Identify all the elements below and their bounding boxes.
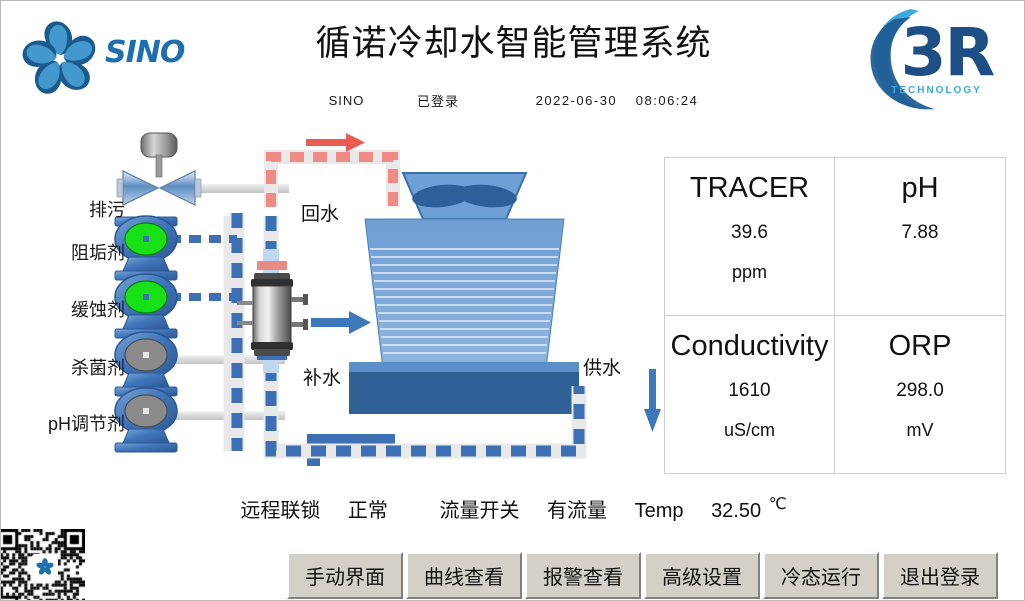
cold-run-button[interactable]: 冷态运行 [763, 552, 879, 599]
advanced-settings-button[interactable]: 高级设置 [644, 552, 760, 599]
bottom-status-bar: 远程联锁 正常 流量开关 有流量 Temp 32.50 ℃ [1, 494, 1025, 523]
logout-button[interactable]: 退出登录 [882, 552, 998, 599]
row-label-ph-adjuster: pH调节剂 [7, 410, 125, 436]
flow-arrow-return [306, 133, 365, 152]
qr-code [0, 529, 93, 601]
sino-mark-small [35, 557, 55, 577]
process-flow-diagram: 排污 阻垢剂 缓蚀剂 杀菌剂 pH调节剂 [1, 121, 661, 491]
system-time: 08:06:24 [636, 93, 699, 108]
header-status-line: SINO 已登录 2022-06-30 08:06:24 [1, 91, 1025, 110]
flow-switch-label: 流量开关 [439, 494, 519, 523]
interlock-label: 远程联锁 [240, 494, 320, 523]
system-date: 2022-06-30 [536, 93, 618, 108]
measurement-ph[interactable]: pH 7.88 [835, 158, 1005, 316]
measurement-orp[interactable]: ORP 298.0 mV [835, 316, 1005, 474]
label-supply-water: 供水 [583, 353, 621, 380]
alarm-view-button[interactable]: 报警查看 [525, 552, 641, 599]
row-label-biocide: 杀菌剂 [15, 354, 125, 380]
measurement-name: TRACER [690, 170, 809, 206]
measurement-name: Conductivity [671, 328, 829, 364]
page-title: 循诺冷却水智能管理系统 [1, 23, 1025, 65]
measurement-value: 298.0 [896, 380, 944, 402]
row-label-blowdown: 排污 [15, 196, 125, 222]
qr-center-logo [32, 554, 58, 580]
measurement-panel: TRACER 39.6 ppm pH 7.88 Conductivity 161… [664, 157, 1006, 474]
row-label-corrosion-inhibitor: 缓蚀剂 [15, 296, 125, 322]
measurement-value: 39.6 [731, 222, 768, 244]
measurement-tracer[interactable]: TRACER 39.6 ppm [665, 158, 835, 316]
interlock-value: 正常 [348, 494, 388, 523]
flow-arrow-supply [644, 369, 661, 432]
flow-arrow-makeup [311, 311, 371, 334]
temperature-unit: ℃ [769, 494, 787, 514]
measurement-unit: mV [907, 420, 934, 441]
logged-in-user: SINO [329, 93, 365, 108]
measurement-value: 7.88 [902, 222, 939, 244]
measurement-name: pH [901, 170, 938, 206]
row-label-scale-inhibitor: 阻垢剂 [15, 239, 125, 265]
action-button-bar: 手动界面 曲线查看 报警查看 高级设置 冷态运行 退出登录 [287, 552, 998, 599]
label-return-water: 回水 [301, 199, 339, 226]
temperature-value: 32.50 [711, 500, 761, 523]
login-state: 已登录 [417, 91, 459, 110]
measurement-conductivity[interactable]: Conductivity 1610 uS/cm [665, 316, 835, 474]
measurement-name: ORP [889, 328, 952, 364]
measurement-unit: ppm [732, 262, 767, 283]
measurement-unit: uS/cm [724, 420, 775, 441]
label-makeup-water: 补水 [303, 363, 341, 390]
temperature-label: Temp [635, 500, 684, 523]
application-window: SINO 3R TECHNOLOGY 循诺冷却水智能管理系统 SINO 已登录 … [0, 0, 1025, 601]
flow-switch-value: 有流量 [547, 494, 607, 523]
blowdown-valve [117, 133, 201, 205]
measurement-value: 1610 [728, 380, 770, 402]
curve-view-button[interactable]: 曲线查看 [406, 552, 522, 599]
manual-interface-button[interactable]: 手动界面 [287, 552, 403, 599]
